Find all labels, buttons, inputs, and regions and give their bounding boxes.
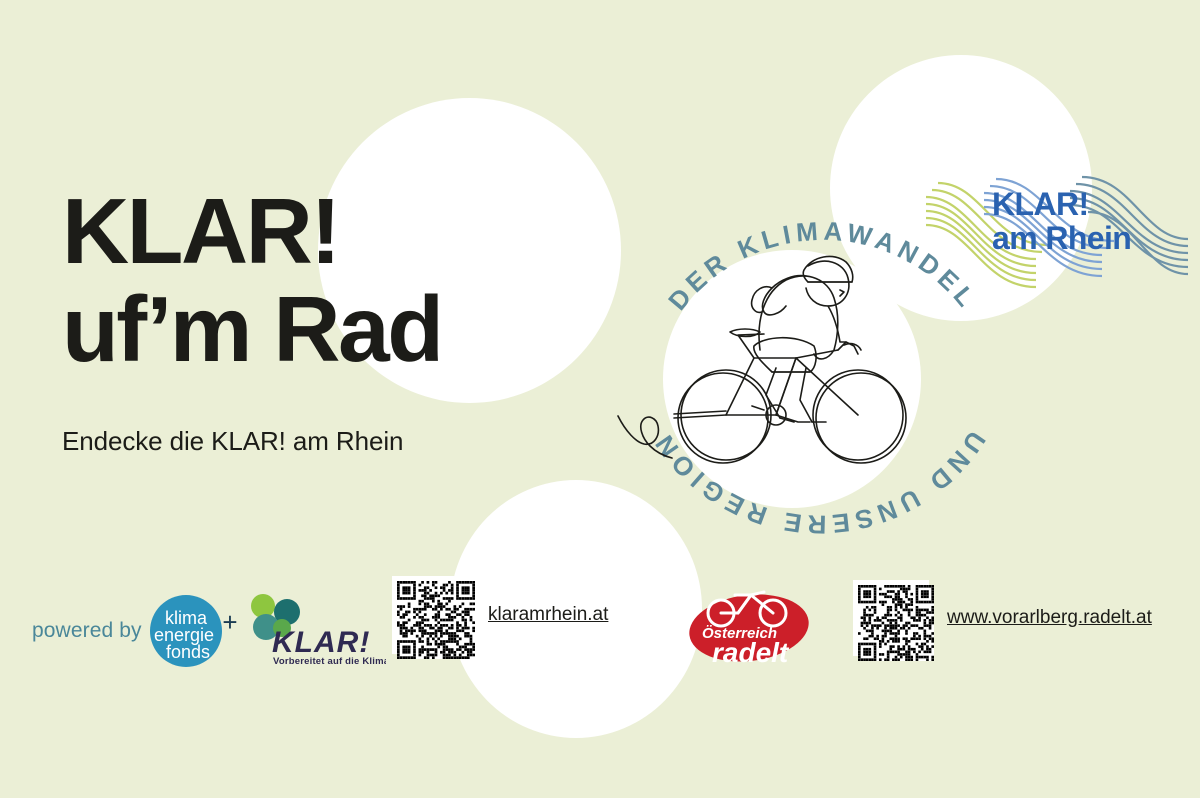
kef-plus-sign: + bbox=[222, 607, 237, 638]
klar-klimakrise-logo: KLAR! Vorbereitet auf die Klimakrise bbox=[246, 590, 386, 668]
klima-energie-fonds-svg: klima energie fonds bbox=[148, 593, 224, 669]
klima-energie-fonds-logo: klima energie fonds + bbox=[148, 593, 224, 669]
link-vorarlberg-radelt[interactable]: www.vorarlberg.radelt.at bbox=[947, 607, 1152, 629]
powered-by-label: powered by bbox=[32, 619, 142, 643]
subheadline: Endecke die KLAR! am Rhein bbox=[62, 374, 442, 457]
qr-klaramrhein-canvas bbox=[397, 581, 475, 659]
powered-by-group: powered by klima energie fonds + bbox=[32, 593, 224, 669]
klar-klimakrise-title: KLAR! bbox=[272, 626, 370, 659]
qr-vorarlberg-group: www.vorarlberg.radelt.at bbox=[853, 580, 1152, 656]
klar-klimakrise-subtitle: Vorbereitet auf die Klimakrise bbox=[273, 656, 386, 667]
link-klaramrhein[interactable]: klaramrhein.at bbox=[488, 604, 608, 626]
klar-klimakrise-group: KLAR! Vorbereitet auf die Klimakrise bbox=[246, 590, 386, 668]
kef-word-fonds: fonds bbox=[166, 642, 210, 662]
headline-line-2: uf’m Rad bbox=[62, 284, 442, 374]
headline-line-1: KLAR! bbox=[62, 186, 442, 276]
qr-klaramrhein-group: klaramrhein.at bbox=[392, 576, 608, 654]
klar-am-rhein-svg: KLAR! am Rhein bbox=[920, 163, 1190, 291]
oesterreich-radelt-logo: Österreich radelt bbox=[688, 586, 810, 670]
poster-canvas: KLAR! uf’m Rad Endecke die KLAR! am Rhei… bbox=[0, 0, 1200, 798]
klar-am-rhein-line2: am Rhein bbox=[992, 220, 1131, 256]
qr-vorarlberg-canvas bbox=[858, 585, 934, 661]
qr-code-icon[interactable] bbox=[853, 580, 929, 656]
klar-am-rhein-logo: KLAR! am Rhein bbox=[920, 163, 1190, 291]
oesterreich-radelt-line2: radelt bbox=[712, 637, 790, 668]
headline-block: KLAR! uf’m Rad Endecke die KLAR! am Rhei… bbox=[62, 186, 442, 457]
klar-am-rhein-line1: KLAR! bbox=[992, 186, 1089, 222]
footer-bar: powered by klima energie fonds + bbox=[0, 568, 1200, 688]
oesterreich-radelt-svg: Österreich radelt bbox=[688, 586, 810, 670]
cyclist-illustration bbox=[668, 250, 918, 480]
klar-klimakrise-svg: KLAR! Vorbereitet auf die Klimakrise bbox=[246, 590, 386, 668]
qr-code-icon[interactable] bbox=[392, 576, 470, 654]
cyclist-svg bbox=[668, 250, 918, 480]
oesterreich-radelt-group: Österreich radelt bbox=[688, 586, 810, 670]
